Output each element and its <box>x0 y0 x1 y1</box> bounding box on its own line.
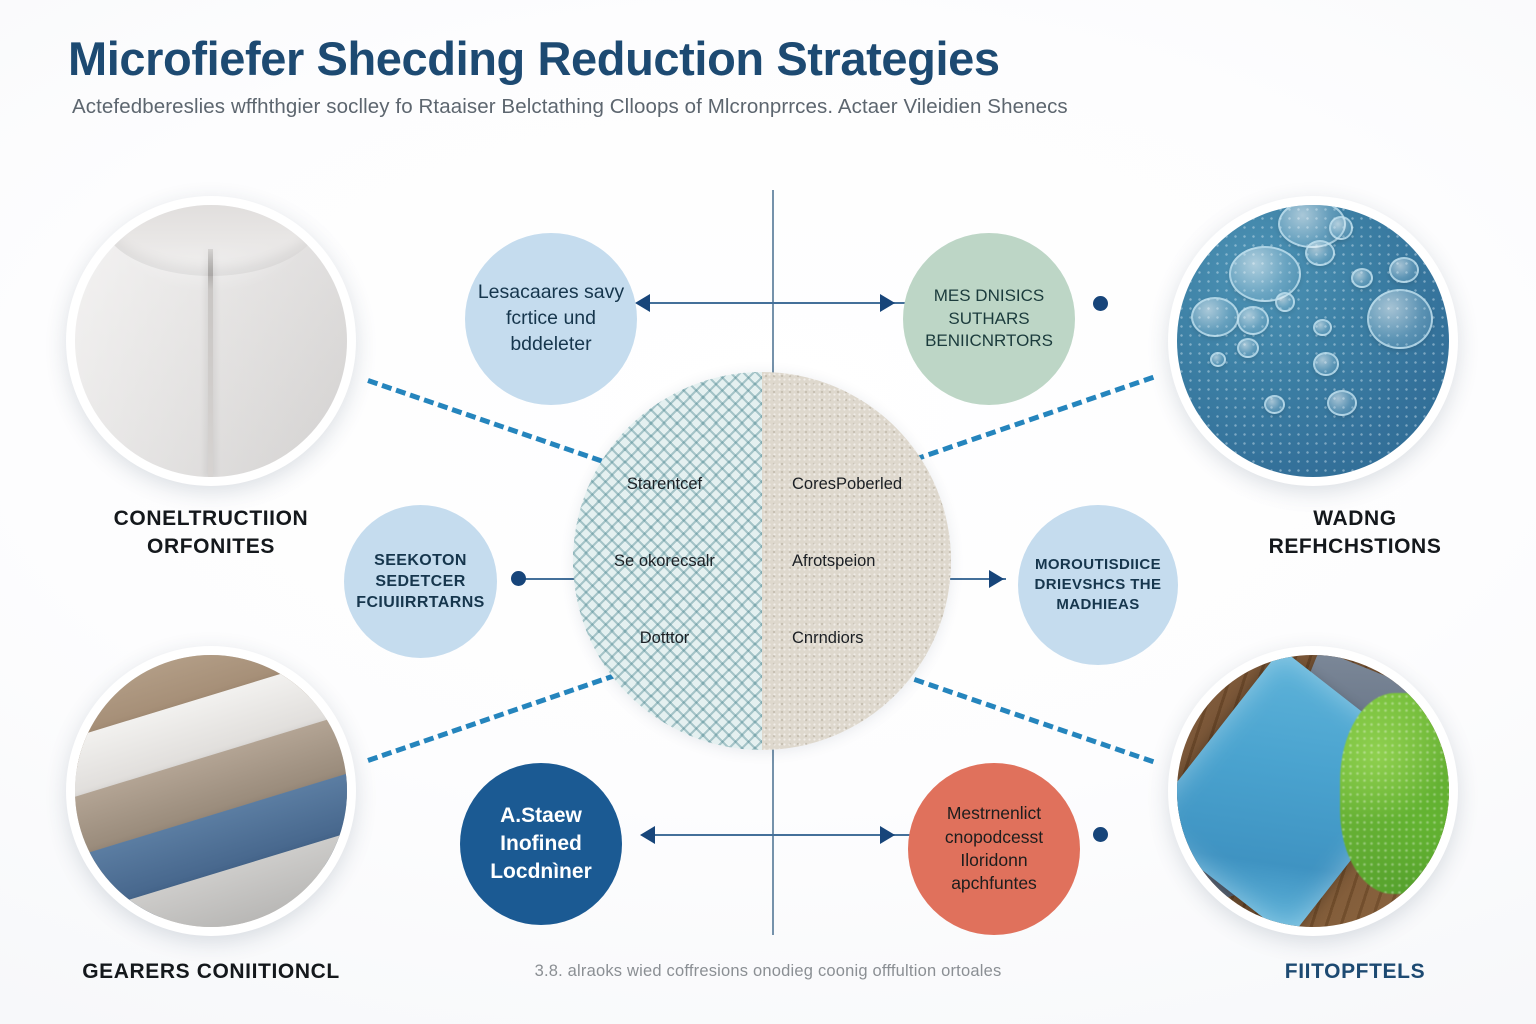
center-left-labels: Starentcef Se okorecsalr Dotttor <box>573 372 762 750</box>
center-left-item-2: Se okorecsalr <box>573 552 756 571</box>
bubble-selection-filters-text: SEEKOTON SEDETCER FCIUIIRRTARNS <box>344 550 497 614</box>
droplet-4 <box>1191 297 1239 337</box>
arrow-head-bottom-left <box>640 826 655 844</box>
bubble-machine-practice[interactable]: MOROUTISDIICE DRIEVSHCS THE MADHIEAS <box>1018 505 1178 665</box>
footnote: 3.8. alraoks wied coffresions onodieg co… <box>0 962 1536 981</box>
blue-cloth-photo <box>1177 655 1449 927</box>
arrow-head-top-right <box>880 294 895 312</box>
droplet-13 <box>1327 390 1357 416</box>
bubble-action-plan-text: A.Staew Inofined Locdnìner <box>460 802 622 886</box>
center-right-item-3: Cnrndiors <box>792 629 951 648</box>
connector-dot-top-right <box>1093 296 1108 311</box>
bubble-machine-practice-text: MOROUTISDIICE DRIEVSHCS THE MADHIEAS <box>1018 555 1178 615</box>
label-construction: CONELTRUCTIION ORFONITES <box>46 505 376 562</box>
center-comparison-circle[interactable]: Starentcef Se okorecsalr Dotttor CoresPo… <box>573 372 951 750</box>
water-droplets-photo <box>1177 205 1449 477</box>
bubble-mitigation-detergent-text: MES DNISICS SUTHARS BENIICNRTORS <box>903 285 1075 353</box>
label-washing-line1: WADNG <box>1190 505 1520 533</box>
photo-node-construction[interactable] <box>66 196 356 486</box>
photo-node-filters[interactable] <box>1168 646 1458 936</box>
arrow-line-bottom-left <box>655 834 805 836</box>
bubble-action-plan[interactable]: A.Staew Inofined Locdnìner <box>460 763 622 925</box>
droplet-9 <box>1389 257 1419 283</box>
droplet-10 <box>1275 292 1295 312</box>
connector-dot-mid-left <box>511 571 526 586</box>
arrow-head-bottom-right <box>880 826 895 844</box>
center-left-item-1: Starentcef <box>573 475 756 494</box>
page-subtitle: Actefedbereslies wffhthgier soclley fo R… <box>72 95 1488 119</box>
photo-node-care[interactable] <box>66 646 356 936</box>
droplet-8 <box>1351 268 1373 288</box>
label-washing: WADNG REFHCHSTIONS <box>1190 505 1520 562</box>
green-foliage <box>1340 693 1449 894</box>
bubble-measurement[interactable]: Mestrnenlict cnopodcesst Iloridonn apchf… <box>908 763 1080 935</box>
label-washing-line2: REFHCHSTIONS <box>1190 533 1520 561</box>
bubble-selection-filters[interactable]: SEEKOTON SEDETCER FCIUIIRRTARNS <box>344 505 497 658</box>
droplet-12 <box>1313 352 1339 376</box>
center-right-item-1: CoresPoberled <box>792 475 951 494</box>
center-left-item-3: Dotttor <box>573 629 756 648</box>
arrow-line-mid-left <box>525 578 580 580</box>
bubble-measurement-text: Mestrnenlict cnopodcesst Iloridonn apchf… <box>908 802 1080 895</box>
bubble-mitigation-fabric-text: Lesacaares savy fcrtice und bddeleter <box>465 280 637 358</box>
label-construction-line2: ORFONITES <box>46 533 376 561</box>
arrow-line-top-left <box>650 302 805 304</box>
droplet-15 <box>1237 338 1259 358</box>
droplet-5 <box>1237 306 1269 335</box>
arrow-head-mid-right <box>989 570 1004 588</box>
center-right-labels: CoresPoberled Afrotspeion Cnrndiors <box>762 372 951 750</box>
droplet-16 <box>1210 352 1226 367</box>
center-right-item-2: Afrotspeion <box>792 552 951 571</box>
arrow-head-top-left <box>635 294 650 312</box>
label-construction-line1: CONELTRUCTIION <box>46 505 376 533</box>
header: Microfiefer Shecding Reduction Strategie… <box>68 34 1488 119</box>
photo-node-washing[interactable] <box>1168 196 1458 486</box>
connector-dot-bottom-right <box>1093 827 1108 842</box>
page-title: Microfiefer Shecding Reduction Strategie… <box>68 34 1488 83</box>
infographic-canvas: Microfiefer Shecding Reduction Strategie… <box>0 0 1536 1024</box>
folded-fabrics-photo <box>75 655 347 927</box>
fleece-hoodie-photo <box>75 205 347 477</box>
